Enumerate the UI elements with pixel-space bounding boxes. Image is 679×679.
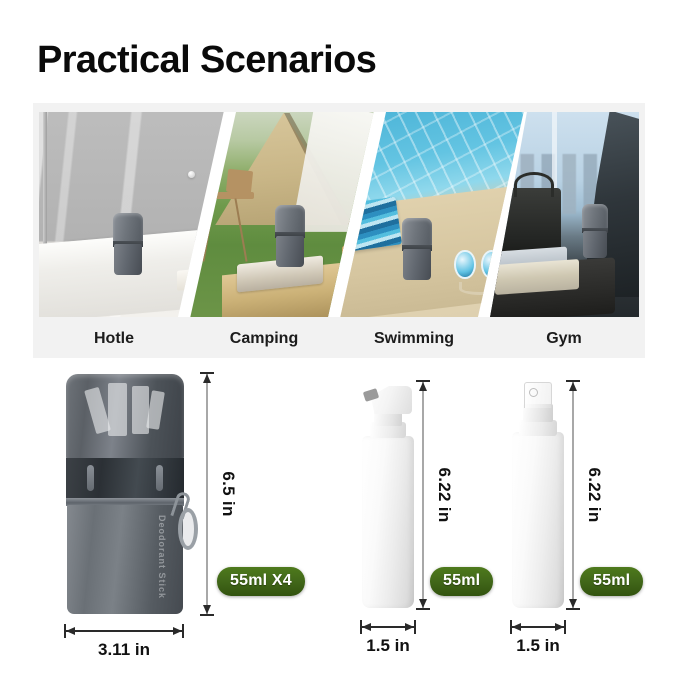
dimensions-section: Deodorant Stick 6.5 in 3.11 in 55ml X4 bbox=[0, 362, 679, 662]
capacity-badge-case: 55ml X4 bbox=[217, 567, 305, 596]
case-brand-text: Deodorant Stick bbox=[157, 515, 167, 599]
spray-overcap bbox=[524, 382, 552, 408]
scenario-labels: Hotle Camping Swimming Gym bbox=[39, 319, 639, 358]
width-dimension-case: 3.11 in bbox=[64, 624, 184, 638]
travel-case-illustration: Deodorant Stick bbox=[66, 374, 184, 614]
height-label-case: 6.5 in bbox=[218, 471, 238, 516]
width-label-spray: 1.5 in bbox=[516, 636, 559, 656]
product-infographic: Practical Scenarios bbox=[0, 0, 679, 679]
case-translucent-lid bbox=[66, 374, 184, 460]
page-title: Practical Scenarios bbox=[37, 40, 376, 82]
capacity-badge-pump: 55ml bbox=[430, 567, 493, 596]
height-dimension-spray: 6.22 in bbox=[566, 380, 580, 610]
height-label-pump: 6.22 in bbox=[434, 467, 454, 522]
height-dimension-pump: 6.22 in bbox=[416, 380, 430, 610]
spray-bottle-body bbox=[512, 432, 564, 608]
height-dimension-case: 6.5 in bbox=[200, 372, 214, 616]
height-label-spray: 6.22 in bbox=[584, 467, 604, 522]
scenario-photo-camping bbox=[189, 112, 375, 317]
width-label-pump: 1.5 in bbox=[366, 636, 409, 656]
width-label-case: 3.11 in bbox=[98, 640, 150, 660]
scenario-photo-strip bbox=[39, 112, 639, 317]
case-body: Deodorant Stick bbox=[67, 505, 183, 614]
scenarios-panel: Hotle Camping Swimming Gym bbox=[33, 103, 645, 358]
spray-collar bbox=[519, 420, 557, 436]
scenario-label-gym: Gym bbox=[489, 319, 639, 358]
shower-knob-icon bbox=[188, 171, 195, 178]
scenario-label-camping: Camping bbox=[189, 319, 339, 358]
width-dimension-pump: 1.5 in bbox=[360, 620, 416, 634]
case-strap-loop bbox=[174, 492, 200, 552]
scenario-label-hotel: Hotle bbox=[39, 319, 189, 358]
scenario-label-swimming: Swimming bbox=[339, 319, 489, 358]
product-in-camping-scene bbox=[275, 205, 305, 267]
product-in-gym-scene bbox=[582, 204, 608, 258]
product-in-swimming-scene bbox=[402, 218, 432, 280]
pump-bottle-illustration bbox=[362, 382, 414, 608]
width-dimension-spray: 1.5 in bbox=[510, 620, 566, 634]
scenario-photo-hotel bbox=[39, 112, 225, 317]
spray-bottle-illustration bbox=[512, 382, 564, 608]
product-in-hotel-scene bbox=[113, 213, 143, 275]
case-dark-band bbox=[66, 458, 184, 498]
swim-goggles-icon bbox=[454, 245, 502, 293]
camp-chair bbox=[200, 184, 256, 262]
capacity-badge-spray: 55ml bbox=[580, 567, 643, 596]
pump-bottle-body bbox=[362, 436, 414, 608]
